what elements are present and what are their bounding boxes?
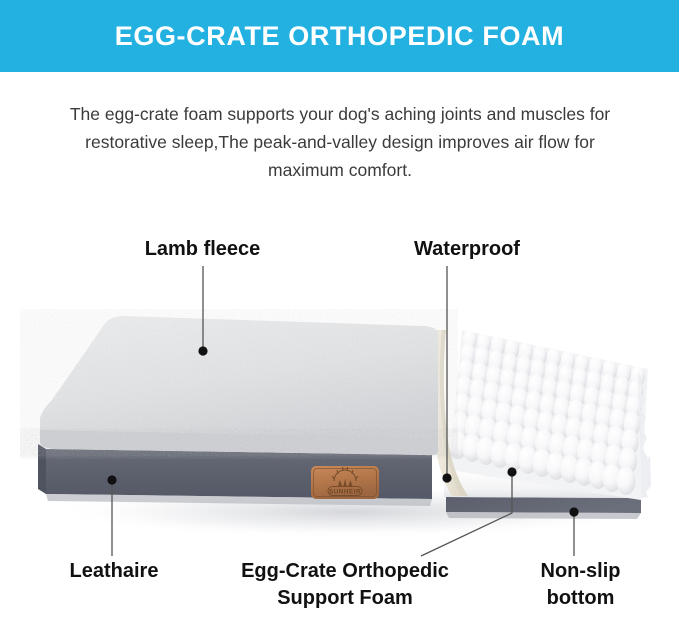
dot-leathaire <box>107 475 116 484</box>
brand-patch-text: SUNHEIR <box>329 489 361 496</box>
dot-lamb-fleece <box>198 346 207 355</box>
callout-label-egg-crate-foam: Egg-Crate Orthopedic Support Foam <box>200 558 490 612</box>
dot-non-slip <box>569 507 578 516</box>
dot-egg-crate <box>507 467 516 476</box>
callout-label-lamb-fleece: Lamb fleece <box>110 236 295 263</box>
brand-patch: SUNHEIR <box>311 466 379 499</box>
callout-label-leathaire: Leathaire <box>28 558 200 585</box>
product-illustration: SUNHEIR <box>0 0 679 617</box>
base-front-right <box>446 496 641 513</box>
dot-waterproof <box>442 473 451 482</box>
leathaire-left-end <box>38 444 46 494</box>
callout-label-waterproof: Waterproof <box>372 236 562 263</box>
callout-label-non-slip-bottom: Non-slip bottom <box>498 558 663 612</box>
non-slip-bottom-edge <box>446 512 641 519</box>
